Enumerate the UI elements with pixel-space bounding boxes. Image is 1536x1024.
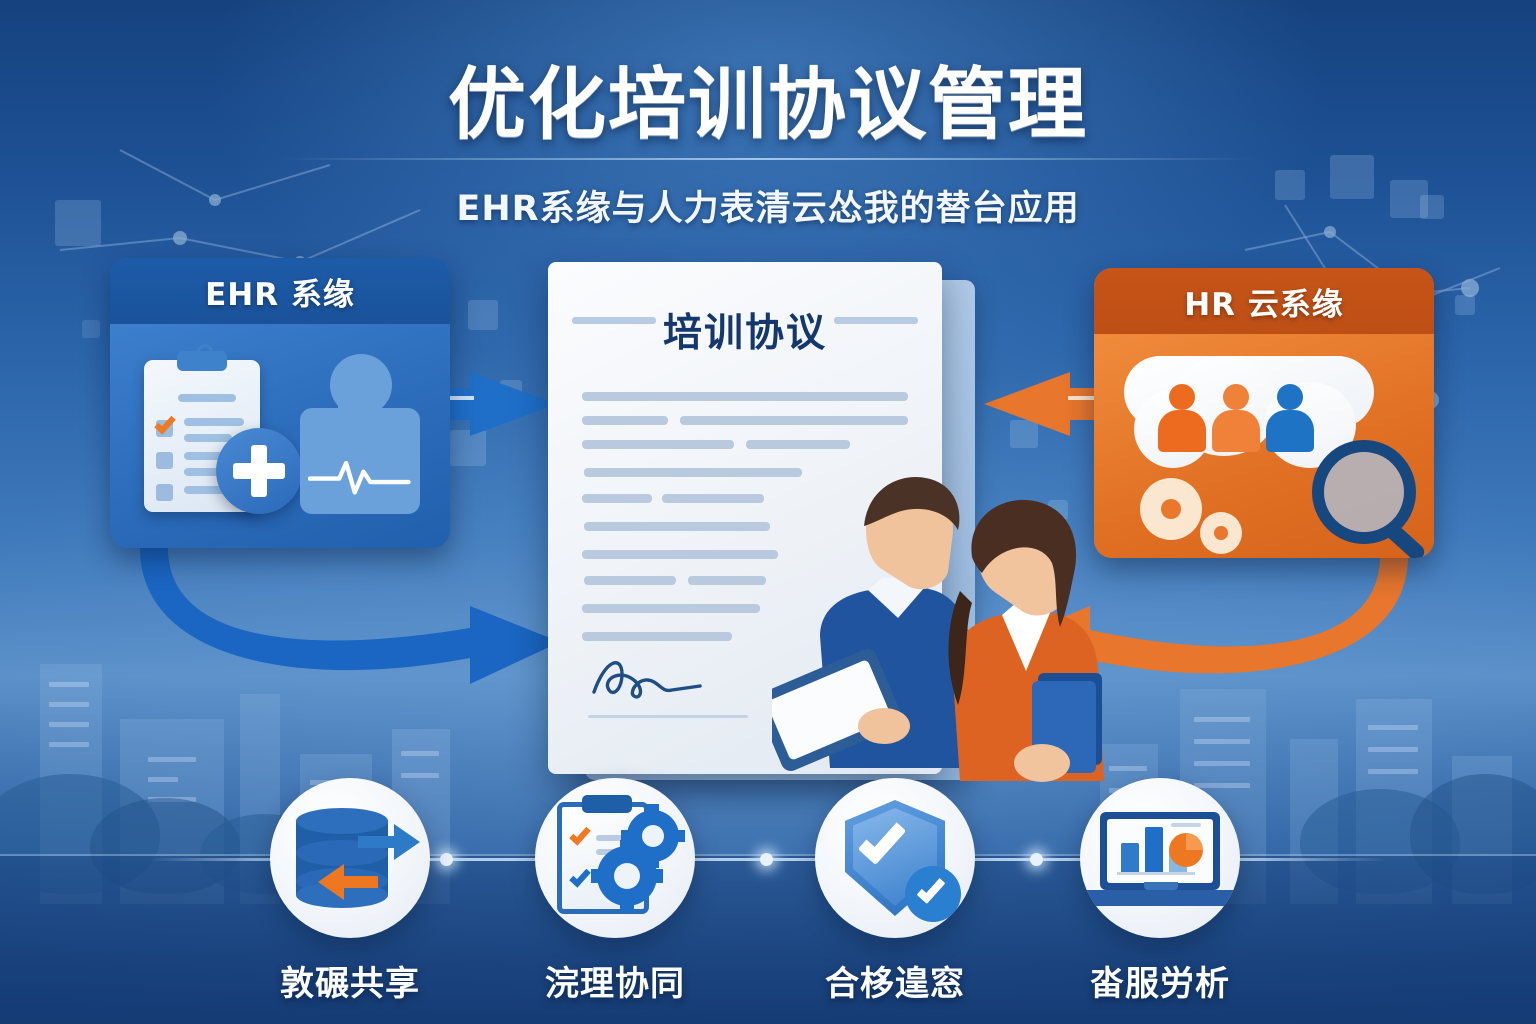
panel-hr-body [1094, 334, 1434, 558]
gear-pair-icon [535, 778, 695, 938]
laptop-analytics-icon [1080, 778, 1240, 938]
businesswoman-with-folder [920, 495, 1110, 785]
feature-label: 敦碾共享 [225, 956, 475, 1005]
magnifier-icon [1312, 440, 1416, 544]
panel-ehr-system[interactable]: EHR 系缘 [110, 258, 450, 548]
signature-icon [588, 652, 738, 704]
decor-square [468, 300, 498, 330]
verified-badge-icon [905, 866, 961, 922]
chart-bar [1121, 843, 1139, 873]
title-divider [280, 158, 1256, 160]
decor-square [500, 380, 522, 402]
medical-plus-icon [216, 428, 302, 514]
document-title: 培训协议 [548, 302, 942, 358]
decor-square [450, 430, 486, 466]
heartbeat-icon [308, 452, 412, 500]
decor-square [1455, 295, 1475, 315]
page-title: 优化培训协议管理 [0, 42, 1536, 154]
decor-square [1010, 420, 1038, 448]
panel-hr-cloud-system[interactable]: HR 云系缘 [1094, 268, 1434, 558]
people-group-icon [1156, 384, 1316, 450]
feature-compliance[interactable]: 合栘遑窓 [770, 778, 1020, 1005]
feature-data-sharing[interactable]: 敦碾共享 [225, 778, 475, 1005]
patient-id-card-icon [300, 354, 420, 514]
feature-label: 合栘遑窓 [770, 956, 1020, 1005]
laptop-base [1086, 890, 1234, 906]
infographic-poster: 优化培训协议管理 EHR系缘与人力表清云怂我的替台应用 EHR 系缘 [0, 0, 1536, 1024]
feature-process-collaboration[interactable]: 浣理协同 [490, 778, 740, 1005]
page-subtitle: EHR系缘与人力表清云怂我的替台应用 [0, 180, 1536, 231]
panel-hr-caption: HR 云系缘 [1094, 268, 1434, 334]
feature-analytics[interactable]: 畓服労析 [1035, 778, 1285, 1005]
database-sync-icon [270, 778, 430, 938]
pie-chart-icon [1169, 833, 1203, 867]
decor-square [82, 320, 100, 338]
gear-icon [1140, 478, 1202, 540]
panel-ehr-body [110, 324, 450, 548]
clipboard-gears-icon [535, 778, 695, 938]
feature-label: 浣理协同 [490, 956, 740, 1005]
sync-arrows-icon [270, 778, 430, 938]
signature-line [588, 715, 748, 718]
arrow-ehr-to-document-bottom [140, 548, 560, 684]
chart-bar [1145, 827, 1163, 873]
gear-icon-small [1200, 512, 1242, 554]
feature-label: 畓服労析 [1035, 956, 1285, 1005]
shield-check-icon [815, 778, 975, 938]
panel-ehr-caption: EHR 系缘 [110, 258, 450, 324]
